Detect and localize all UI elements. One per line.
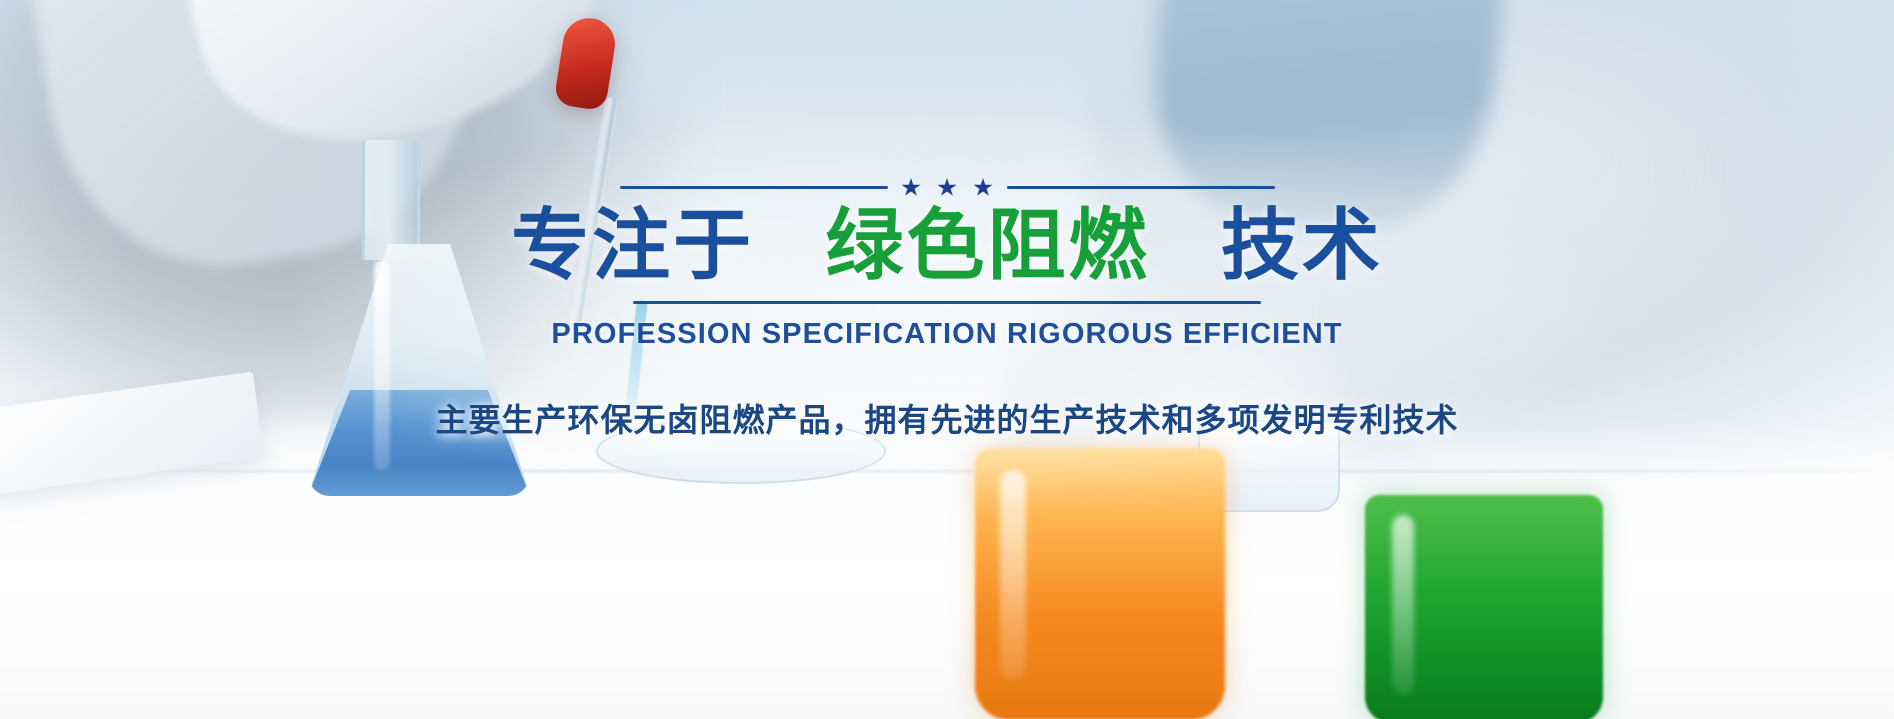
headline-part-3: 技术 [1221,201,1383,289]
star-group [902,178,993,197]
star-icon [974,178,993,197]
star-icon [938,178,957,197]
headline-part-1: 专注于 [511,201,754,289]
decorative-divider-top [620,178,1275,197]
divider-line-left [620,186,888,189]
headline-underline [633,301,1261,304]
headline: 专注于 绿色阻燃 技术 [511,203,1383,287]
tagline: 主要生产环保无卤阻燃产品，拥有先进的生产技术和多项发明专利技术 [435,395,1458,441]
banner-content: 专注于 绿色阻燃 技术 PROFESSION SPECIFICATION RIG… [0,0,1894,719]
subtitle-english: PROFESSION SPECIFICATION RIGOROUS EFFICI… [551,318,1342,351]
headline-part-2: 绿色阻燃 [825,201,1149,289]
star-icon [902,178,921,197]
divider-line-right [1007,186,1275,189]
hero-banner: 专注于 绿色阻燃 技术 PROFESSION SPECIFICATION RIG… [0,0,1894,719]
